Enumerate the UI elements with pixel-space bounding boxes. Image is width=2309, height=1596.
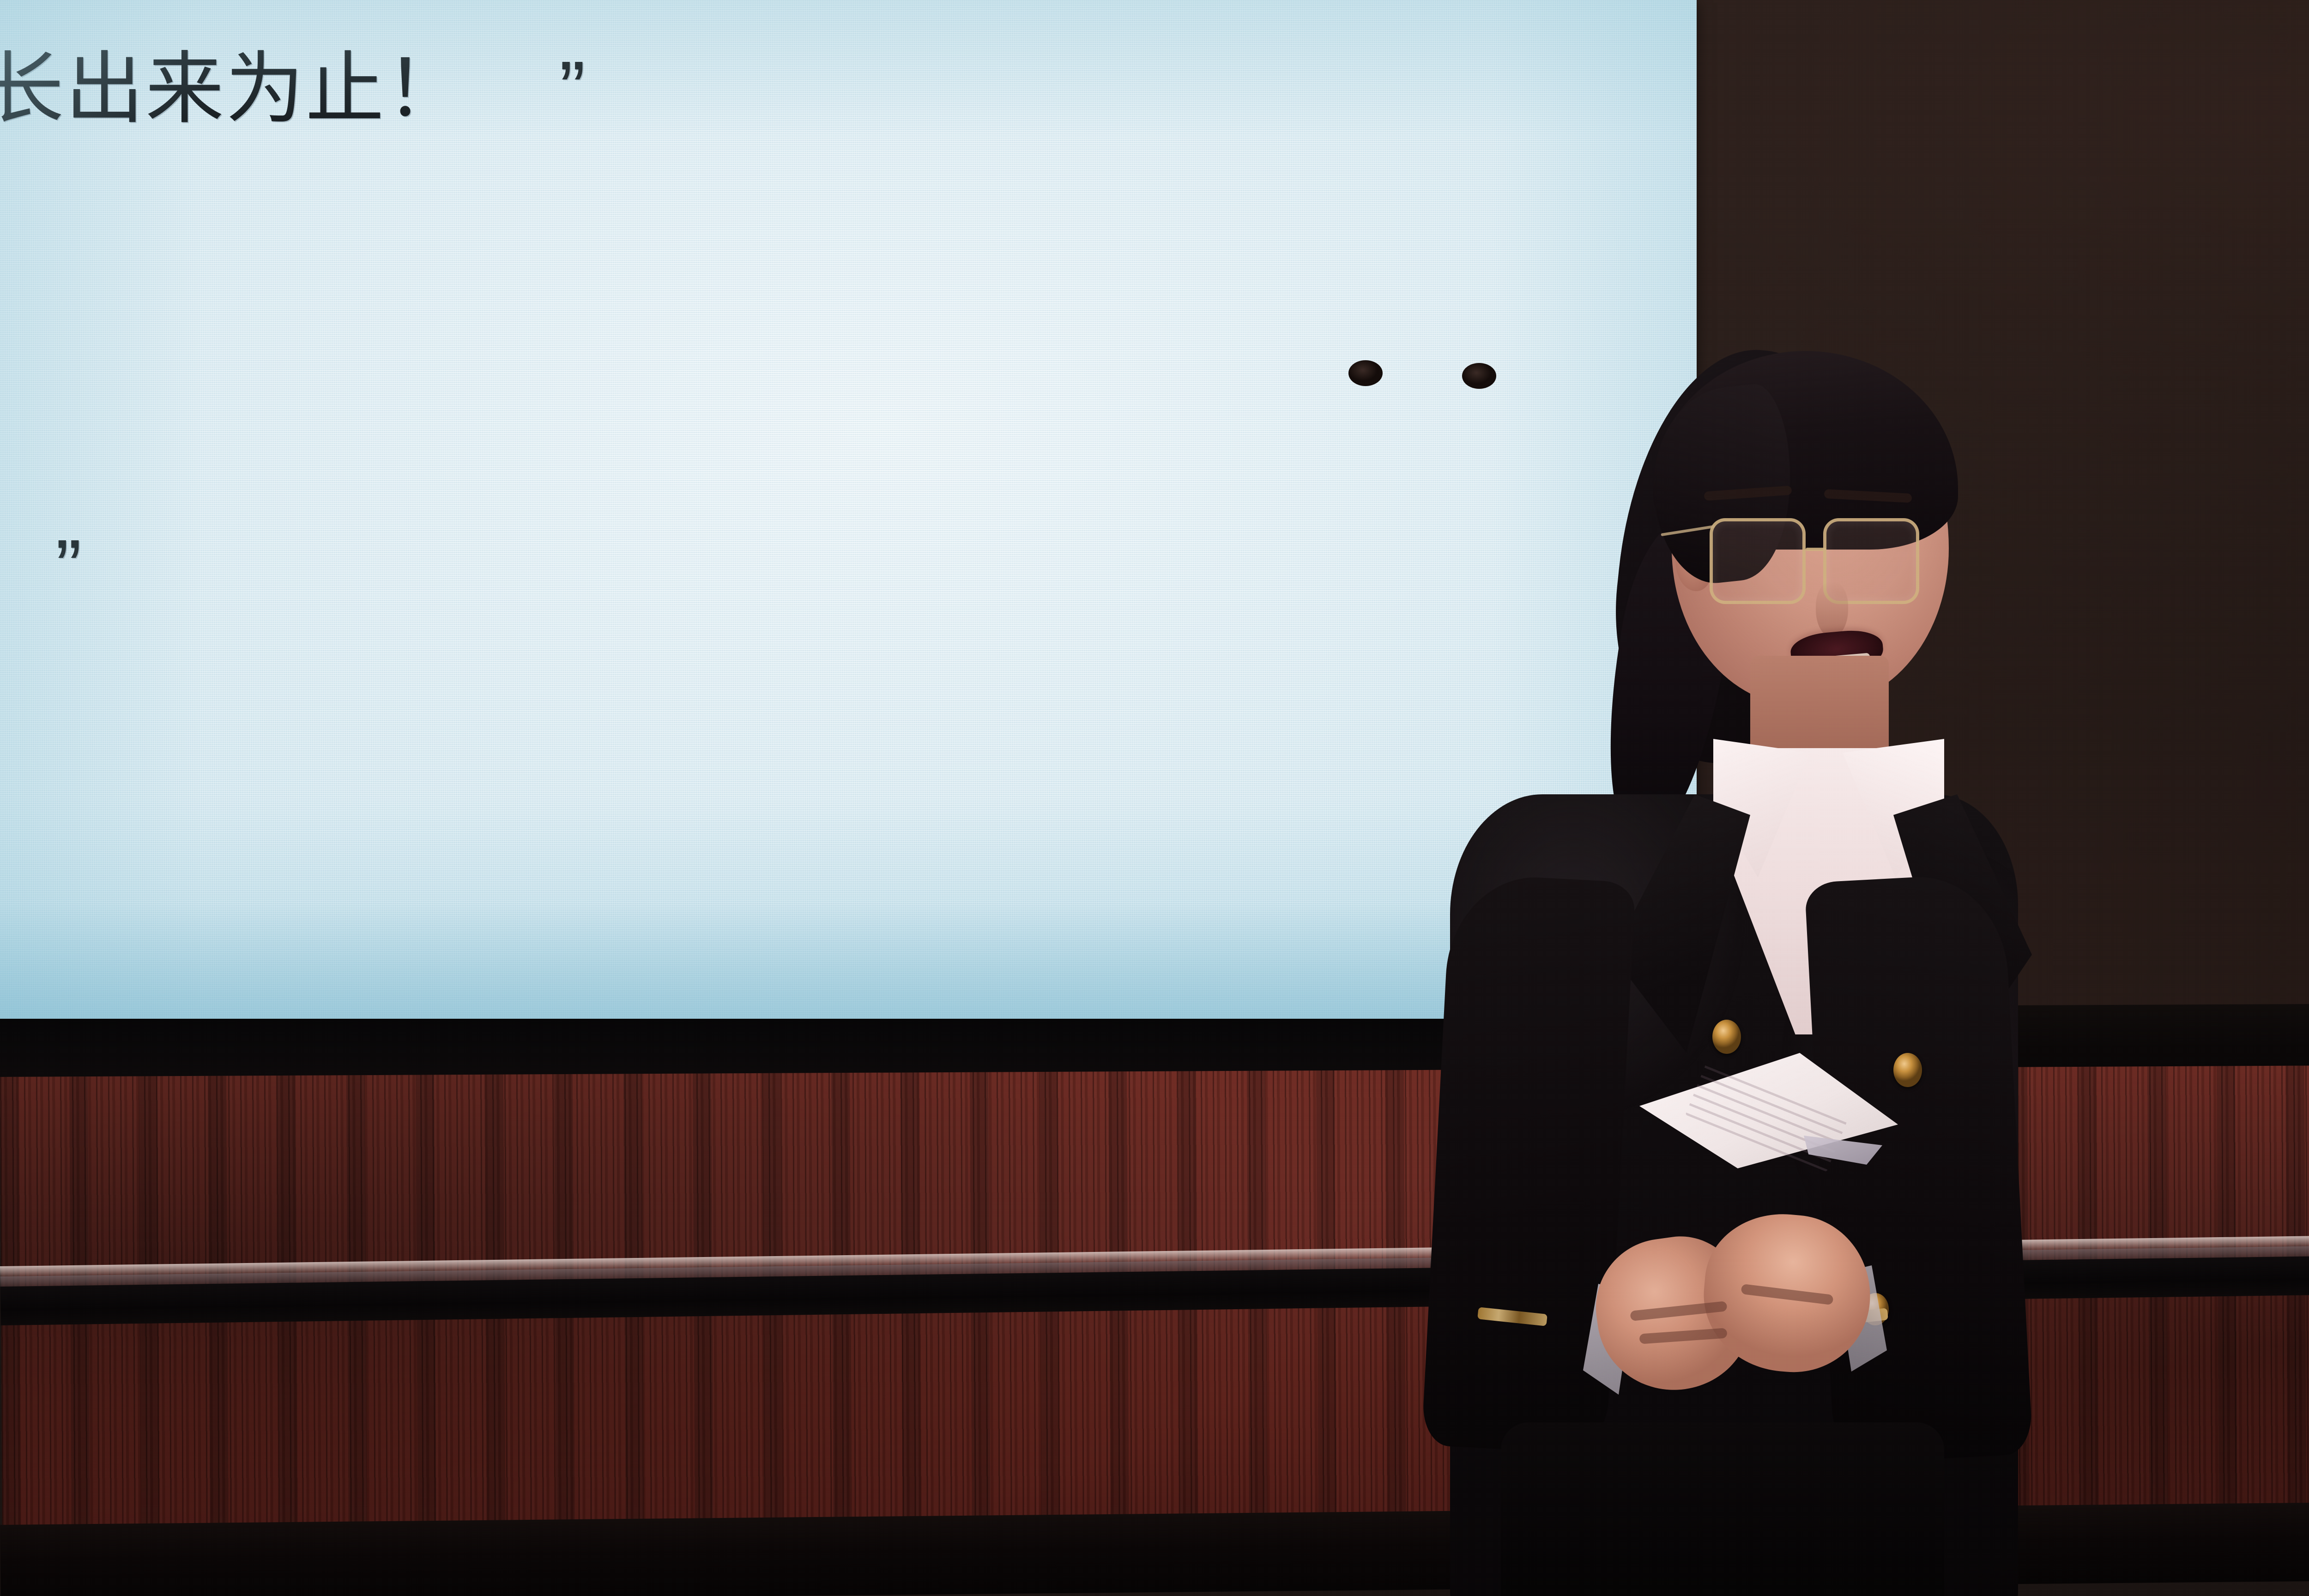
eyeglasses (1685, 508, 1943, 619)
speaker-figure (1298, 332, 2018, 1596)
eyeglass-bridge (1806, 548, 1826, 551)
blazer-sleeve-right (1804, 873, 2033, 1464)
eye-right (1462, 363, 1496, 389)
eyeglass-lens-left (1710, 518, 1806, 604)
blazer-button-upper-left (1712, 1020, 1741, 1054)
blazer-button-upper-right (1893, 1053, 1922, 1087)
nose (1816, 582, 1848, 637)
eye-left (1348, 360, 1383, 386)
skirt (1501, 1422, 1944, 1596)
slide-text-line-2: ” (55, 528, 83, 607)
slide-text-line-1: 长出来为止！ ” (0, 50, 587, 128)
presentation-scene: 长出来为止！ ” ” (0, 0, 2309, 1596)
